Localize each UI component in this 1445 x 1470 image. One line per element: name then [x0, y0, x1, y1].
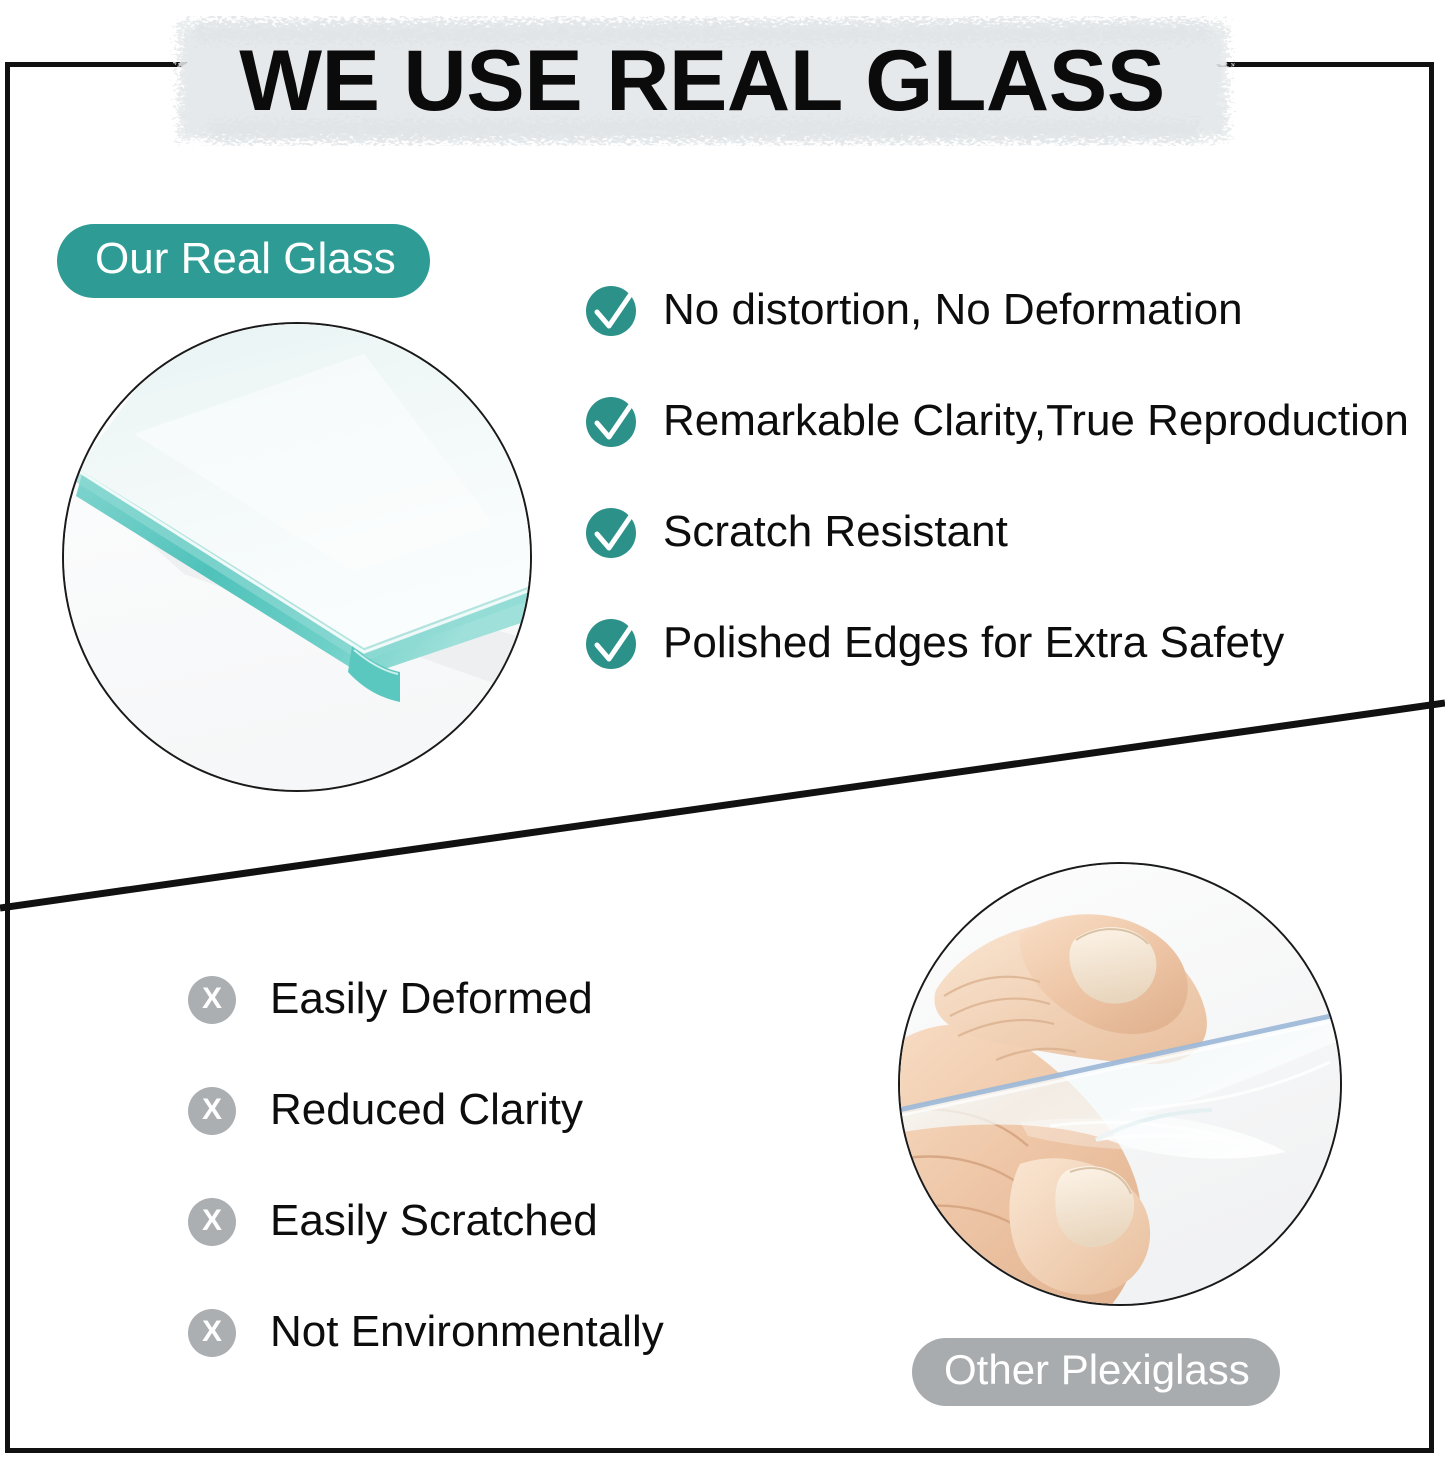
check-icon [585, 282, 641, 338]
check-icon [585, 504, 641, 560]
x-icon: X [188, 976, 236, 1024]
drawback-item: X Not Environmentally [188, 1309, 888, 1420]
feature-item: Scratch Resistant [585, 504, 1435, 615]
check-icon [585, 393, 641, 449]
badge-other-plexiglass-label: Other Plexiglass [944, 1349, 1250, 1395]
x-icon-glyph: X [202, 1206, 222, 1236]
infographic-canvas: WE USE REAL GLASS Our Real Glass [0, 0, 1445, 1470]
photo-real-glass [62, 322, 532, 792]
badge-other-plexiglass: Other Plexiglass [912, 1338, 1280, 1406]
drawback-item: X Reduced Clarity [188, 1087, 888, 1198]
feature-item-label: Remarkable Clarity,True Reproduction [663, 390, 1409, 452]
real-glass-illustration [64, 324, 530, 790]
drawback-item-label: Easily Deformed [270, 968, 593, 1030]
drawback-item-label: Easily Scratched [270, 1190, 598, 1252]
drawback-item-label: Not Environmentally [270, 1301, 664, 1363]
feature-item: No distortion, No Deformation [585, 282, 1435, 393]
x-icon: X [188, 1309, 236, 1357]
drawback-list: X Easily Deformed X Reduced Clarity X Ea… [188, 976, 888, 1420]
x-icon-glyph: X [202, 984, 222, 1014]
feature-list: No distortion, No Deformation Remarkable… [585, 282, 1435, 726]
badge-our-real-glass-label: Our Real Glass [95, 237, 396, 286]
drawback-item: X Easily Scratched [188, 1198, 888, 1309]
x-icon: X [188, 1087, 236, 1135]
feature-item-label: Polished Edges for Extra Safety [663, 612, 1284, 674]
check-icon [585, 615, 641, 671]
drawback-item: X Easily Deformed [188, 976, 888, 1087]
page-title: WE USE REAL GLASS [157, 22, 1246, 140]
badge-our-real-glass: Our Real Glass [57, 224, 430, 298]
feature-item: Remarkable Clarity,True Reproduction [585, 393, 1435, 504]
x-icon: X [188, 1198, 236, 1246]
photo-other-plexiglass [898, 862, 1342, 1306]
feature-item-label: No distortion, No Deformation [663, 279, 1243, 341]
feature-item-label: Scratch Resistant [663, 501, 1008, 563]
x-icon-glyph: X [202, 1317, 222, 1347]
plexiglass-illustration [900, 864, 1340, 1304]
x-icon-glyph: X [202, 1095, 222, 1125]
drawback-item-label: Reduced Clarity [270, 1079, 583, 1141]
feature-item: Polished Edges for Extra Safety [585, 615, 1435, 726]
